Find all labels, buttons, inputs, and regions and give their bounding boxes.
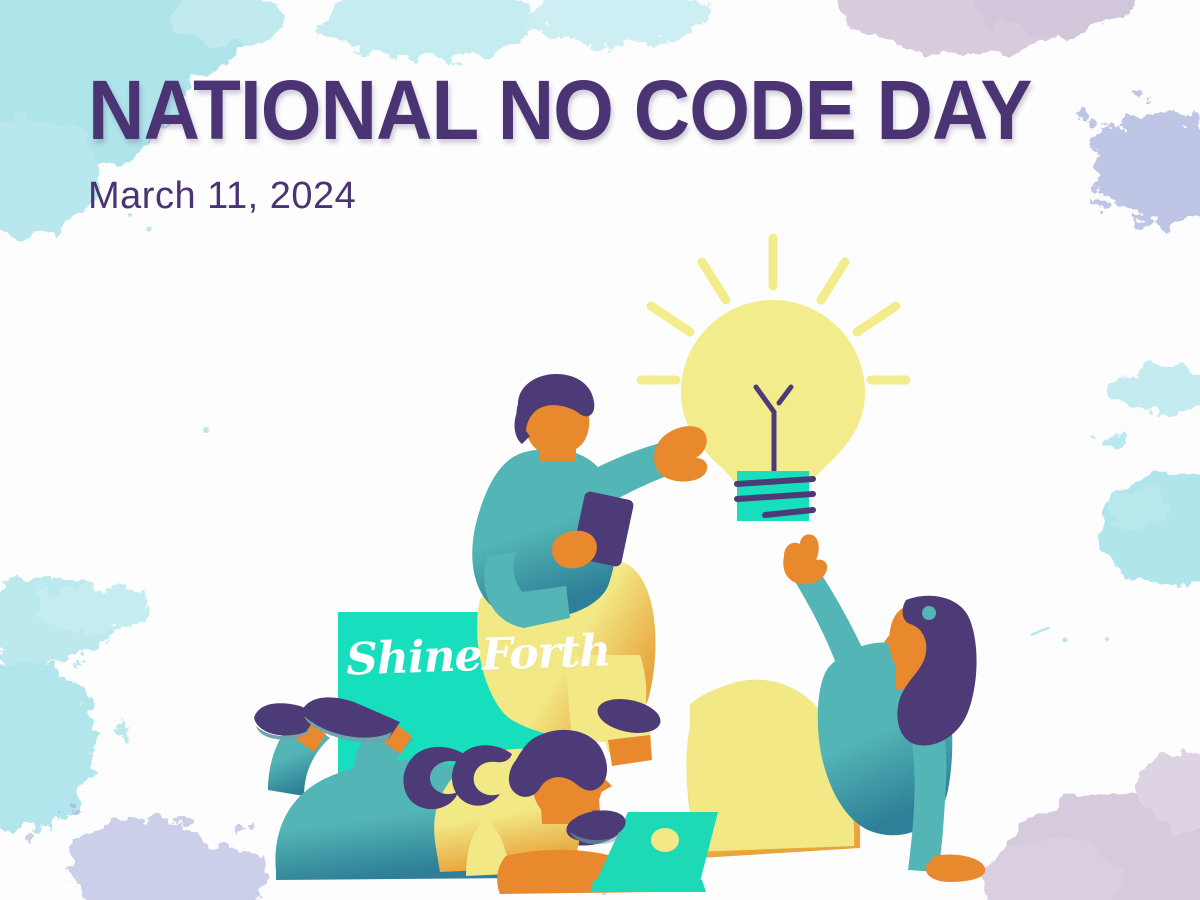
reaching-woman-foot — [926, 854, 986, 882]
laptop-base — [590, 880, 706, 892]
seated-man-sweater — [472, 449, 617, 620]
brand-logo-text: ShineForth — [345, 625, 611, 685]
reaching-woman-hair — [897, 596, 976, 746]
laptop-logo-dot — [651, 828, 679, 852]
reaching-woman-front-arm — [898, 680, 946, 872]
seated-man-raised-arm — [596, 438, 692, 502]
lying-woman-lower-body — [276, 760, 533, 880]
lying-woman-front-leg — [354, 716, 414, 796]
splatter-bottom-right-mauve — [980, 750, 1200, 900]
splatter-specks — [128, 213, 1109, 896]
lying-woman-arm — [497, 850, 657, 894]
splatter-bottom-left-periwinkle — [26, 803, 268, 900]
seated-man-lower-arm — [484, 552, 570, 628]
lightbulb-glass — [681, 300, 865, 497]
seated-man-back-ankle — [566, 786, 600, 818]
page-title: NATIONAL NO CODE DAY — [88, 72, 1032, 149]
lying-woman-face — [531, 742, 603, 823]
seated-man-head — [524, 389, 590, 454]
lying-woman-front-ankle — [370, 714, 412, 754]
seated-man-back-shoe — [554, 806, 626, 849]
reaching-woman-raised-arm — [794, 566, 872, 674]
lying-woman-shirt-sleeve — [466, 818, 510, 876]
event-date: March 11, 2024 — [88, 149, 1103, 218]
reaching-woman-nose — [884, 628, 896, 648]
lying-woman-nose — [598, 774, 612, 794]
reaching-woman — [686, 534, 985, 882]
lying-woman-back-shoe-sole — [256, 726, 312, 740]
lying-woman-back-shoe — [254, 703, 318, 735]
reaching-woman-ear — [922, 606, 936, 620]
lying-woman-shirt — [434, 749, 581, 872]
seated-man-tablet-hand — [552, 531, 597, 569]
splatter-right-cyan — [1089, 368, 1200, 588]
lying-woman-front-shoe-sole — [304, 716, 392, 742]
headline-block: NATIONAL NO CODE DAY March 11, 2024 — [88, 72, 1103, 218]
reaching-woman-sweater — [818, 642, 952, 835]
seated-man-front-ankle — [608, 735, 652, 766]
splatter-top-center — [325, 0, 710, 58]
laptop-screen — [596, 812, 718, 882]
seated-man-hair-sideburn — [515, 410, 530, 444]
lying-woman-front-shoe — [302, 697, 400, 742]
seated-man-neck — [540, 432, 576, 462]
lying-woman-laptop — [254, 697, 666, 894]
lightbulb-base — [737, 471, 809, 521]
seated-man-tablet — [472, 374, 707, 850]
seated-man-hair — [516, 374, 594, 432]
reaching-woman-legs — [686, 680, 860, 858]
lying-woman-hand — [626, 855, 666, 883]
lying-woman-ponytail-end — [403, 747, 464, 809]
laptop — [590, 812, 718, 892]
lightbulb-base-stripes — [737, 479, 813, 515]
reaching-woman-hand — [783, 534, 827, 584]
lightbulb-filament — [756, 387, 791, 470]
lying-woman-hair — [509, 730, 607, 797]
reaching-woman-face — [889, 603, 951, 679]
reaching-woman-thigh — [690, 684, 854, 852]
seated-man-front-shin — [596, 690, 652, 752]
seated-man-collar — [530, 447, 576, 470]
lightbulb — [641, 238, 906, 521]
lying-woman-back-leg — [268, 716, 330, 796]
splatter-top-right-mauve — [840, 0, 1135, 54]
seated-man-back-leg — [556, 690, 600, 800]
lying-woman-ponytail — [452, 745, 512, 805]
reaching-woman-neck — [896, 660, 926, 690]
lying-woman-back-ankle — [286, 714, 326, 752]
seated-man-front-shoe — [594, 694, 663, 739]
seated-man-raised-hand — [654, 426, 707, 481]
lying-woman-neck — [540, 790, 580, 824]
poster-canvas: NATIONAL NO CODE DAY March 11, 2024 — [0, 0, 1200, 900]
lightbulb-rays — [641, 238, 906, 380]
seated-man-shoe-overlap — [564, 806, 628, 846]
splatter-bottom-left-cyan — [0, 575, 155, 833]
tablet — [571, 491, 634, 568]
